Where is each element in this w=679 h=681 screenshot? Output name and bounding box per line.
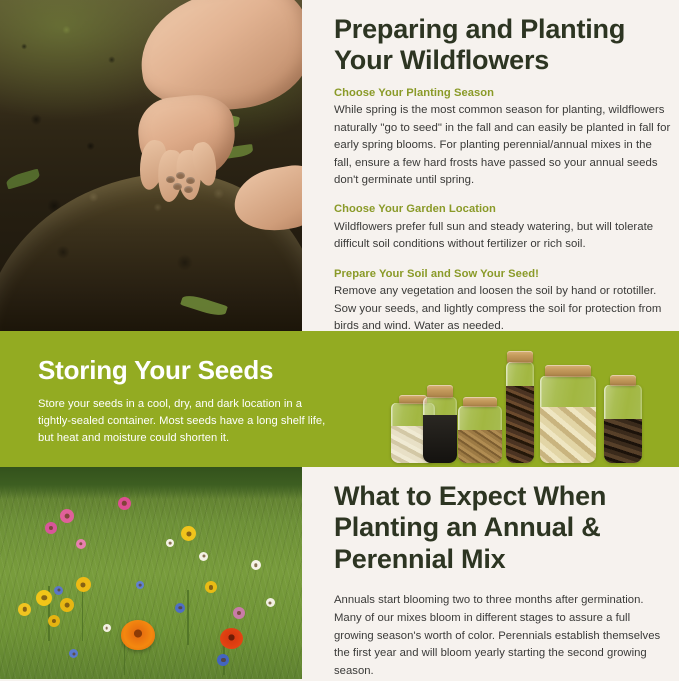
yellow-bloom — [18, 603, 31, 616]
storing-seeds-band: Storing Your Seeds Store your seeds in a… — [0, 331, 679, 467]
yellow-bloom — [76, 577, 91, 592]
jar-glass — [604, 385, 642, 463]
preparing-section: Preparing and Planting Your Wildflowers … — [302, 0, 679, 332]
pink-bloom — [118, 497, 131, 510]
jar-glass — [458, 406, 502, 463]
jar-mixed-dark-seeds — [604, 375, 642, 463]
blue-bloom — [175, 603, 185, 613]
what-to-expect-section: What to Expect When Planting an Annual &… — [302, 467, 679, 679]
expect-body: Annuals start blooming two to three mont… — [334, 592, 667, 681]
orange-poppy — [121, 620, 155, 650]
seed-jars-photo — [385, 337, 679, 463]
preparing-heading: Preparing and Planting Your Wildflowers — [334, 14, 671, 77]
soil-planting-photo — [0, 0, 302, 332]
white-bloom — [103, 624, 111, 632]
body-prepare-soil: Remove any vegetation and loosen the soi… — [334, 283, 671, 335]
jar-glass — [506, 362, 534, 463]
jar-contents — [506, 386, 534, 463]
jar-pumpkin-seeds — [540, 365, 596, 463]
subhead-planting-season: Choose Your Planting Season — [334, 86, 671, 101]
jar-glass — [423, 397, 457, 463]
jar-contents — [423, 415, 457, 463]
subhead-prepare-soil: Prepare Your Soil and Sow Your Seed! — [334, 267, 671, 282]
pink-bloom — [233, 607, 245, 619]
jar-contents — [540, 407, 596, 463]
blue-bloom — [217, 654, 229, 666]
jar-tall-dark-seeds — [506, 351, 534, 463]
meadow-background — [0, 467, 302, 679]
seeds-in-hand — [166, 172, 200, 194]
storing-copy: Storing Your Seeds Store your seeds in a… — [38, 355, 338, 447]
expect-heading: What to Expect When Planting an Annual &… — [334, 481, 667, 575]
jar-glass — [540, 376, 596, 463]
jar-black-seeds — [423, 385, 457, 463]
jar-contents — [458, 430, 502, 463]
jar-brown-grain — [458, 397, 502, 463]
subhead-garden-location: Choose Your Garden Location — [334, 202, 671, 217]
jar-contents — [604, 419, 642, 463]
body-garden-location: Wildflowers prefer full sun and steady w… — [334, 219, 671, 254]
body-planting-season: While spring is the most common season f… — [334, 102, 671, 189]
infographic-page: Preparing and Planting Your Wildflowers … — [0, 0, 679, 679]
storing-body: Store your seeds in a cool, dry, and dar… — [38, 396, 338, 447]
pink-bloom — [76, 539, 86, 549]
treeline — [0, 467, 302, 499]
white-bloom — [251, 560, 261, 570]
storing-heading: Storing Your Seeds — [38, 355, 338, 385]
wildflower-meadow-photo — [0, 467, 302, 679]
